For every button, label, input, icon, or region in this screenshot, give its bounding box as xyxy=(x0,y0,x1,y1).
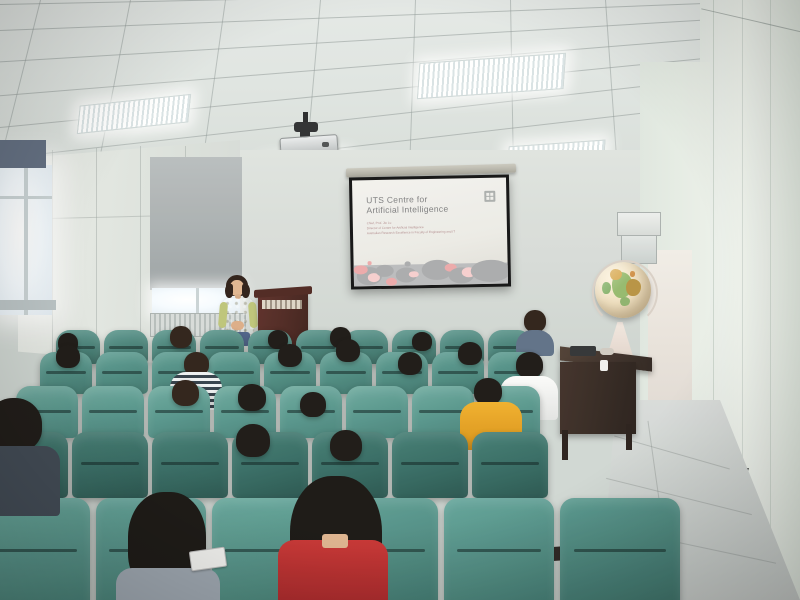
audience-head xyxy=(516,352,543,378)
audience-head xyxy=(474,378,502,405)
lecture-hall-photo: UTS Centre for Artificial Intelligence C… xyxy=(0,0,800,600)
slide-title-line2: Artificial Intelligence xyxy=(366,203,448,215)
audience-head xyxy=(56,345,80,368)
seat xyxy=(82,386,144,438)
wooden-desk-body xyxy=(560,362,636,434)
projection-screen-frame: UTS Centre for Artificial Intelligence C… xyxy=(349,174,511,289)
audience-head xyxy=(238,384,266,411)
audience-head xyxy=(412,332,432,351)
slide-subtitle: Chief, Prof. Jie Lu Director of Centre f… xyxy=(367,219,500,236)
wall-control-box-upper xyxy=(617,212,661,236)
phone-user-attendee xyxy=(116,568,220,600)
desk-handset xyxy=(600,348,614,355)
audience-head xyxy=(330,430,362,461)
desk-telephone xyxy=(570,346,596,356)
audience-head xyxy=(300,392,326,417)
audience-head xyxy=(336,339,360,362)
audience-head xyxy=(398,352,422,375)
audience-head xyxy=(236,424,270,457)
seat xyxy=(392,432,468,498)
seat xyxy=(444,498,554,600)
lectern-nameplate xyxy=(262,300,302,309)
uts-logo-icon xyxy=(484,190,495,201)
audience-head xyxy=(278,344,302,367)
audience-torso xyxy=(0,446,60,516)
slide-bubble-graphics xyxy=(353,235,508,287)
seat xyxy=(152,432,228,498)
slide-title: UTS Centre for Artificial Intelligence xyxy=(366,193,448,215)
seat xyxy=(346,386,408,438)
audience-head xyxy=(458,342,482,365)
projection-screen: UTS Centre for Artificial Intelligence C… xyxy=(352,178,508,287)
seat xyxy=(472,432,548,498)
desk-tag xyxy=(600,360,608,371)
ceiling-projector xyxy=(278,112,340,154)
red-top-attendee xyxy=(278,540,388,600)
seat xyxy=(560,498,680,600)
window-roller-blind xyxy=(150,157,242,290)
audience-head xyxy=(524,310,546,332)
recessed-fluorescent-panel xyxy=(77,94,191,134)
audience-head xyxy=(170,326,192,348)
seat xyxy=(72,432,148,498)
audience-head xyxy=(172,380,199,406)
